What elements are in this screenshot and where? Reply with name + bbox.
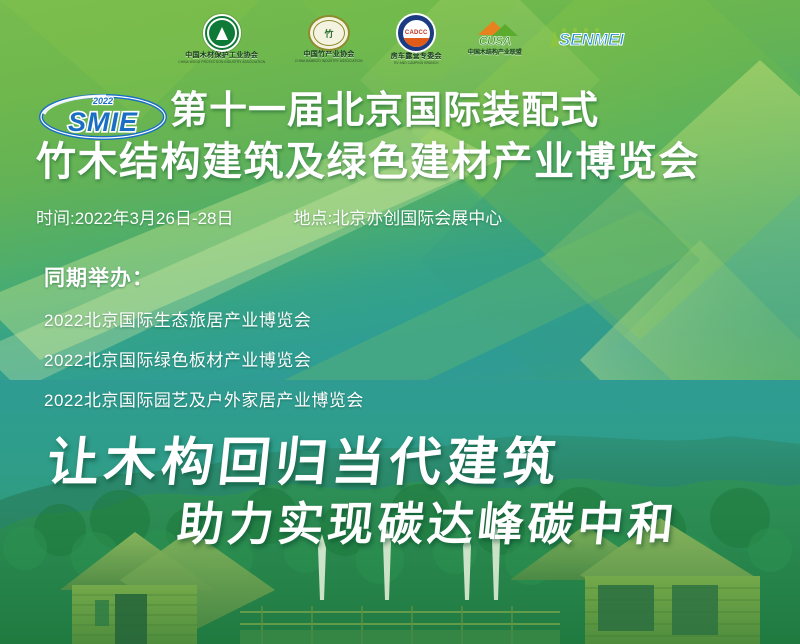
bamboo-glyph: 竹 <box>313 20 345 46</box>
logo-label-cn: 中国木材保护工业协会 <box>185 52 258 59</box>
senmei-leaf-icon: SENMEI <box>548 31 624 48</box>
smie-wordmark: SMIE <box>68 107 138 137</box>
senmei-wordmark: SENMEI <box>559 31 624 48</box>
headline-line-2: 竹木结构建筑及绿色建材产业博览会 <box>36 142 796 182</box>
cadcc-emblem-icon: CADCC <box>396 13 436 53</box>
event-date: 时间:2022年3月26日-28日 <box>36 204 233 229</box>
slogan-line-2: 助力实现碳达峰碳中和 <box>175 488 682 554</box>
concurrent-item: 2022北京国际园艺及户外家居产业博览会 <box>44 386 524 411</box>
cusa-house-icon: CUSA 中国木结构产业联盟 <box>468 21 522 57</box>
logo-label-en: CHINA BAMBOO INDUSTRY ASSOCIATION <box>295 59 363 63</box>
logo-bamboo-industry: 竹 中国竹产业协会 CHINA BAMBOO INDUSTRY ASSOCIAT… <box>293 15 364 62</box>
logo-label-en: RV AND CAMPING BRANCH <box>394 61 438 65</box>
exhibition-poster: 中国木材保护工业协会 CHINA WOOD PROTECTION INDUSTR… <box>0 0 800 644</box>
concurrent-title: 同期举办： <box>44 262 524 292</box>
concurrent-section: 同期举办： 2022北京国际生态旅居产业博览会 2022北京国际绿色板材产业博览… <box>44 262 524 426</box>
logo-senmei: SENMEI <box>548 31 624 48</box>
logo-label-cn: 中国木结构产业联盟 <box>468 47 522 56</box>
event-venue: 地点:北京亦创国际会展中心 <box>293 204 502 229</box>
logo-china-wood-protection: 中国木材保护工业协会 CHINA WOOD PROTECTION INDUSTR… <box>176 14 267 63</box>
logo-label-cn: 中国竹产业协会 <box>304 51 355 58</box>
cadcc-wordmark: CADCC <box>405 30 428 36</box>
wood-protection-emblem-icon <box>203 14 241 52</box>
logo-label-cn: 房车露营专委会 <box>391 53 442 60</box>
logo-cusa: CUSA 中国木结构产业联盟 <box>468 21 522 57</box>
concurrent-item: 2022北京国际生态旅居产业博览会 <box>44 306 524 331</box>
association-logo-strip: 中国木材保护工业协会 CHINA WOOD PROTECTION INDUSTR… <box>0 8 800 70</box>
smie-logo: 2022 SMIE <box>36 88 171 142</box>
bamboo-emblem-icon: 竹 <box>308 15 350 51</box>
smie-year: 2022 <box>92 96 113 106</box>
event-meta: 时间:2022年3月26日-28日 地点:北京亦创国际会展中心 <box>36 204 776 229</box>
headline-line-1: 第十一届北京国际装配式 <box>170 92 795 130</box>
logo-label-en: CHINA WOOD PROTECTION INDUSTRY ASSOCIATI… <box>178 60 265 64</box>
logo-cadcc: CADCC 房车露营专委会 RV AND CAMPING BRANCH <box>391 13 442 64</box>
slogan-line-1: 让木构回归当代建筑 <box>44 420 565 495</box>
cusa-wordmark: CUSA <box>468 34 522 48</box>
concurrent-item: 2022北京国际绿色板材产业博览会 <box>44 346 524 371</box>
